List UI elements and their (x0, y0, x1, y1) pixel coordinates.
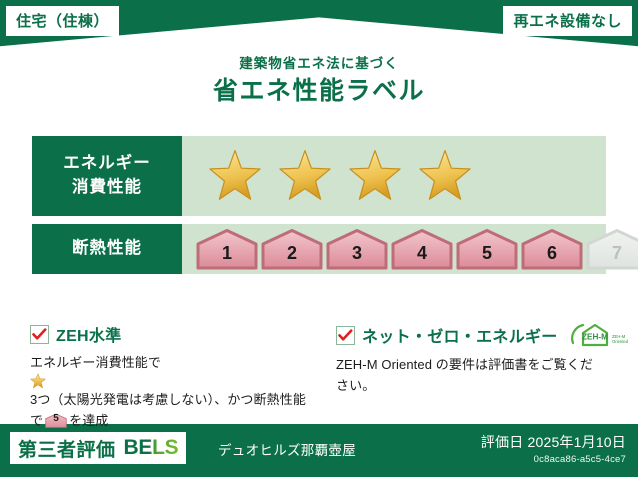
insulation-badge-5: 5 (456, 228, 518, 270)
insulation-badge-6: 6 (521, 228, 583, 270)
badge-number: 5 (482, 243, 492, 270)
insulation-badge-3: 3 (326, 228, 388, 270)
renewable-equipment-tag: 再エネ設備なし (503, 6, 632, 36)
insulation-badge-1: 1 (196, 228, 258, 270)
svg-text:ZEH-M: ZEH-M (582, 333, 608, 342)
evaluation-id: 0c8aca86-a5c5-4ce7 (481, 454, 626, 465)
bels-badge: 第三者評価 BELS (10, 432, 186, 464)
badge-number: 1 (222, 243, 232, 270)
energy-label-line1: エネルギー (63, 152, 151, 176)
zehm-note-text: ZEH-M Oriented の要件は評価書をご覧ください。 (336, 354, 606, 396)
inline-star-icon (30, 373, 46, 389)
insulation-grade-badges: 1234567 (182, 228, 638, 270)
zeh-note-heading: ZEH水準 (30, 322, 306, 346)
energy-consumption-row: エネルギー 消費性能 (32, 136, 606, 216)
badge-number: 3 (352, 243, 362, 270)
insulation-label-line1: 断熱性能 (72, 237, 142, 261)
zeh-check-icon (30, 325, 49, 344)
performance-rows: エネルギー 消費性能 断熱性能 1234567 (32, 136, 606, 282)
star-icon (348, 149, 402, 203)
badge-number: 6 (547, 243, 557, 270)
insulation-badge-4: 4 (391, 228, 453, 270)
zehm-note-title: ネット・ゼロ・エネルギー (362, 323, 558, 347)
zehm-note-column: ネット・ゼロ・エネルギー ZEH-M ZEH-M Oriented ZEH-M … (320, 322, 610, 431)
evaluation-info: 評価日 2025年1月10日 0c8aca86-a5c5-4ce7 (481, 432, 626, 465)
svg-text:Oriented: Oriented (612, 339, 629, 344)
notes-section: ZEH水準 エネルギー消費性能で3つ（太陽光発電は考慮しない）、かつ断熱性能で5… (30, 322, 610, 431)
energy-label-line2: 消費性能 (72, 176, 142, 200)
energy-consumption-label: エネルギー 消費性能 (32, 136, 182, 216)
insulation-performance-row: 断熱性能 1234567 (32, 224, 606, 274)
label-footer: 第三者評価 BELS デュオヒルズ那覇壺屋 評価日 2025年1月10日 0c8… (0, 424, 638, 477)
insulation-performance-body: 1234567 (182, 224, 638, 274)
star-icon (418, 149, 472, 203)
badge-number: 2 (287, 243, 297, 270)
building-name: デュオヒルズ那覇壺屋 (218, 439, 356, 459)
badge-number: 4 (417, 243, 427, 270)
badge-number: 7 (612, 243, 622, 270)
star-rating (182, 149, 472, 203)
zeh-note-text: エネルギー消費性能で3つ（太陽光発電は考慮しない）、かつ断熱性能で5を達成 (30, 352, 306, 431)
bels-japanese-label: 第三者評価 (18, 435, 116, 462)
insulation-performance-label: 断熱性能 (32, 224, 182, 274)
zeh-note-title: ZEH水準 (56, 322, 122, 346)
label-title-block: 建築物省エネ法に基づく 省エネ性能ラベル (0, 55, 638, 108)
insulation-badge-7: 7 (586, 228, 638, 270)
zeh-note-column: ZEH水準 エネルギー消費性能で3つ（太陽光発電は考慮しない）、かつ断熱性能で5… (30, 322, 320, 431)
zeh-note-text-part1: エネルギー消費性能で (30, 355, 161, 370)
zehm-note-heading: ネット・ゼロ・エネルギー ZEH-M ZEH-M Oriented (336, 322, 606, 348)
insulation-badge-2: 2 (261, 228, 323, 270)
star-icon (278, 149, 332, 203)
bels-logo-text: BELS (124, 436, 179, 460)
energy-consumption-body (182, 136, 606, 216)
label-subtitle: 建築物省エネ法に基づく (0, 55, 638, 73)
zeh-m-oriented-logo-icon: ZEH-M ZEH-M Oriented (569, 322, 631, 348)
label-title: 省エネ性能ラベル (0, 75, 638, 109)
zehm-check-icon (336, 326, 355, 345)
energy-performance-label: 住宅（住棟） 再エネ設備なし 建築物省エネ法に基づく 省エネ性能ラベル エネルギ… (0, 0, 638, 477)
building-type-tag: 住宅（住棟） (6, 6, 119, 36)
evaluation-date: 評価日 2025年1月10日 (481, 432, 626, 452)
star-icon (208, 149, 262, 203)
